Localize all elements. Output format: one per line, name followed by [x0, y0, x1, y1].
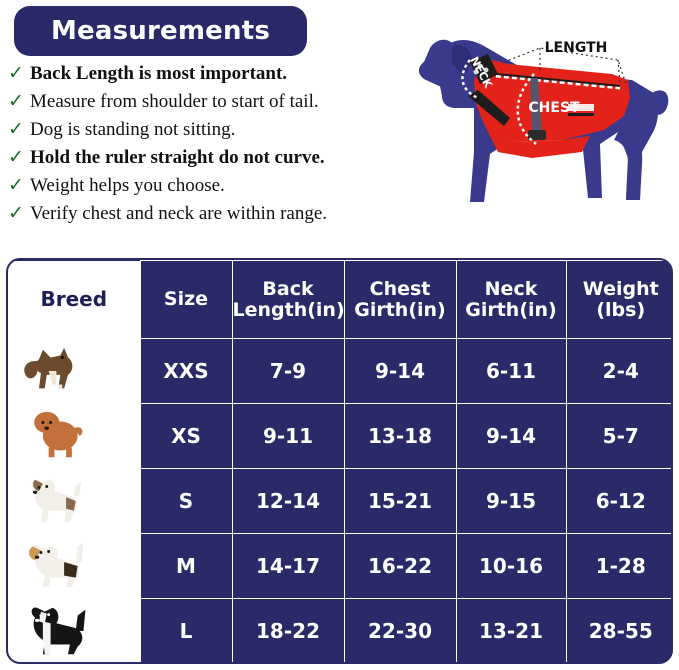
cell-neck-girth: 9-15 [456, 469, 566, 534]
cell-back-length: 12-14 [232, 469, 344, 534]
cell-chest-girth: 22-30 [344, 599, 456, 664]
check-icon: ✓ [8, 204, 30, 223]
cell-back-length: 9-11 [232, 404, 344, 469]
check-icon: ✓ [8, 176, 30, 195]
column-header-back-length: Back Length(in) [232, 261, 344, 339]
cell-back-length: 7-9 [232, 339, 344, 404]
list-item: ✓ Weight helps you choose. [8, 175, 418, 203]
cell-size: M [140, 534, 232, 599]
list-item: ✓ Dog is standing not sitting. [8, 119, 418, 147]
cell-chest-girth: 15-21 [344, 469, 456, 534]
list-item-label: Verify chest and neck are within range. [30, 203, 327, 225]
cell-size: XXS [140, 339, 232, 404]
cell-size: S [140, 469, 232, 534]
list-item: ✓ Hold the ruler straight do not curve. [8, 147, 418, 175]
list-item-label: Dog is standing not sitting. [30, 119, 235, 141]
dog-measurement-diagram: LENGTH NECK CHEST [412, 12, 676, 248]
list-item: ✓ Back Length is most important. [8, 63, 418, 91]
table-row: S 12-14 15-21 9-15 6-12 [8, 469, 673, 534]
list-item-label: Hold the ruler straight do not curve. [30, 147, 325, 169]
border-collie-icon [10, 602, 138, 660]
cell-neck-girth: 10-16 [456, 534, 566, 599]
cell-neck-girth: 9-14 [456, 404, 566, 469]
cell-neck-girth: 13-21 [456, 599, 566, 664]
table-row: L 18-22 22-30 13-21 28-55 [8, 599, 673, 664]
check-icon: ✓ [8, 92, 30, 111]
breed-photo-beagle [8, 534, 140, 599]
cell-chest-girth: 16-22 [344, 534, 456, 599]
check-icon: ✓ [8, 148, 30, 167]
column-header-breed: Breed [8, 261, 140, 339]
breed-photo-jack-russell [8, 469, 140, 534]
page-title: Measurements [51, 16, 270, 46]
column-header-size: Size [140, 261, 232, 339]
measurement-tips-list: ✓ Back Length is most important. ✓ Measu… [8, 63, 418, 231]
check-icon: ✓ [8, 120, 30, 139]
cell-weight: 6-12 [566, 469, 673, 534]
list-item-label: Measure from shoulder to start of tail. [30, 91, 319, 113]
dog-size-chart-page: Measurements ✓ Back Length is most impor… [0, 0, 679, 670]
breed-photo-chihuahua [8, 339, 140, 404]
table-row: XXS 7-9 9-14 6-11 2-4 [8, 339, 673, 404]
cell-chest-girth: 13-18 [344, 404, 456, 469]
cell-chest-girth: 9-14 [344, 339, 456, 404]
chihuahua-icon [10, 342, 138, 400]
beagle-icon [10, 537, 138, 595]
cell-weight: 1-28 [566, 534, 673, 599]
size-chart-table: Breed Size Back Length(in) Chest Girth(i… [6, 258, 673, 664]
cell-weight: 28-55 [566, 599, 673, 664]
length-label: LENGTH [545, 40, 608, 56]
column-header-chest-girth: Chest Girth(in) [344, 261, 456, 339]
toy-poodle-icon [10, 407, 138, 465]
list-item-label: Weight helps you choose. [30, 175, 225, 197]
column-header-neck-girth: Neck Girth(in) [456, 261, 566, 339]
list-item: ✓ Verify chest and neck are within range… [8, 203, 418, 231]
cell-neck-girth: 6-11 [456, 339, 566, 404]
check-icon: ✓ [8, 64, 30, 83]
chest-label: CHEST [528, 100, 580, 116]
breed-photo-toy-poodle [8, 404, 140, 469]
page-title-banner: Measurements [14, 6, 307, 56]
cell-back-length: 18-22 [232, 599, 344, 664]
column-header-weight: Weight (lbs) [566, 261, 673, 339]
jack-russell-icon [10, 472, 138, 530]
list-item-label: Back Length is most important. [30, 63, 287, 85]
list-item: ✓ Measure from shoulder to start of tail… [8, 91, 418, 119]
table-header-row: Breed Size Back Length(in) Chest Girth(i… [8, 261, 673, 339]
cell-weight: 5-7 [566, 404, 673, 469]
breed-photo-border-collie [8, 599, 140, 664]
table-row: XS 9-11 13-18 9-14 5-7 [8, 404, 673, 469]
cell-back-length: 14-17 [232, 534, 344, 599]
cell-size: XS [140, 404, 232, 469]
cell-weight: 2-4 [566, 339, 673, 404]
table-row: M 14-17 16-22 10-16 1-28 [8, 534, 673, 599]
cell-size: L [140, 599, 232, 664]
